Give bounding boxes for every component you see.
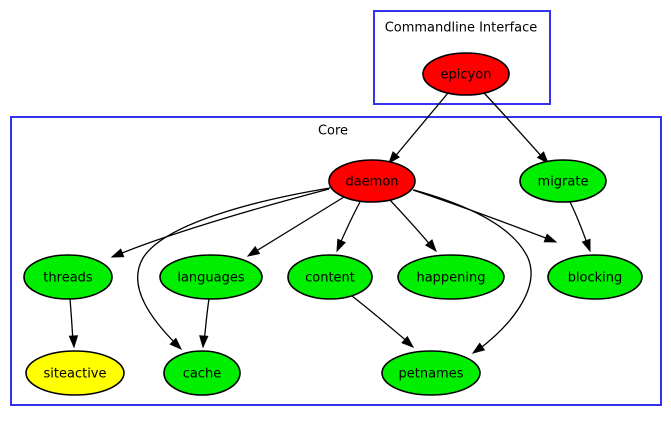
edge-path-content-petnames bbox=[352, 296, 409, 343]
node-label-epicyon: epicyon bbox=[441, 68, 492, 83]
arrowhead-migrate-blocking bbox=[582, 239, 593, 252]
node-daemon[interactable]: daemon bbox=[329, 160, 415, 202]
arrowhead-threads-siteactive bbox=[69, 336, 78, 347]
edge-migrate-blocking bbox=[570, 202, 594, 252]
arrowhead-daemon-languages bbox=[246, 247, 260, 260]
node-languages[interactable]: languages bbox=[160, 255, 262, 299]
node-happening[interactable]: happening bbox=[398, 255, 504, 299]
node-label-blocking: blocking bbox=[568, 271, 623, 286]
node-label-content: content bbox=[305, 271, 355, 286]
diagram-canvas: Commandline InterfaceCore epicyondaemonm… bbox=[0, 0, 671, 424]
edge-path-epicyon-migrate bbox=[484, 93, 544, 159]
node-migrate[interactable]: migrate bbox=[520, 160, 606, 202]
arrowhead-daemon-petnames bbox=[471, 343, 485, 356]
cluster-label-cli: Commandline Interface bbox=[385, 21, 538, 36]
edge-path-migrate-blocking bbox=[570, 202, 588, 246]
node-label-siteactive: siteactive bbox=[44, 367, 107, 382]
edge-threads-siteactive bbox=[69, 299, 78, 347]
edge-daemon-threads bbox=[111, 189, 329, 261]
arrowhead-daemon-blocking bbox=[544, 234, 557, 245]
edge-path-daemon-blocking bbox=[413, 190, 551, 240]
node-siteactive[interactable]: siteactive bbox=[26, 351, 124, 395]
arrowhead-languages-cache bbox=[199, 336, 208, 348]
node-label-languages: languages bbox=[177, 271, 245, 286]
edge-languages-cache bbox=[199, 299, 209, 347]
edge-path-languages-cache bbox=[204, 299, 209, 342]
node-content[interactable]: content bbox=[288, 255, 372, 299]
node-label-cache: cache bbox=[183, 367, 222, 382]
node-cache[interactable]: cache bbox=[164, 351, 240, 395]
edge-path-daemon-threads bbox=[117, 189, 329, 255]
edge-daemon-happening bbox=[390, 200, 439, 254]
node-petnames[interactable]: petnames bbox=[382, 351, 480, 395]
node-label-threads: threads bbox=[43, 271, 93, 286]
dependency-graph: Commandline InterfaceCore epicyondaemonm… bbox=[0, 0, 671, 424]
arrowhead-daemon-content bbox=[333, 239, 345, 252]
edge-content-petnames bbox=[352, 296, 416, 350]
node-epicyon[interactable]: epicyon bbox=[423, 53, 509, 95]
node-blocking[interactable]: blocking bbox=[548, 255, 642, 299]
node-threads[interactable]: threads bbox=[24, 255, 112, 299]
node-label-petnames: petnames bbox=[399, 367, 464, 382]
edge-path-threads-siteactive bbox=[70, 299, 73, 342]
edge-daemon-content bbox=[333, 202, 360, 253]
edge-path-daemon-happening bbox=[390, 200, 432, 247]
cluster-label-core: Core bbox=[318, 124, 348, 139]
edge-path-daemon-content bbox=[339, 202, 360, 246]
cluster-group: Commandline InterfaceCore bbox=[11, 11, 661, 405]
node-label-migrate: migrate bbox=[538, 175, 589, 190]
edge-path-epicyon-daemon bbox=[393, 93, 448, 159]
edge-daemon-languages bbox=[246, 197, 344, 259]
node-label-daemon: daemon bbox=[345, 175, 398, 190]
arrowhead-daemon-threads bbox=[111, 249, 124, 261]
node-label-happening: happening bbox=[416, 271, 485, 286]
